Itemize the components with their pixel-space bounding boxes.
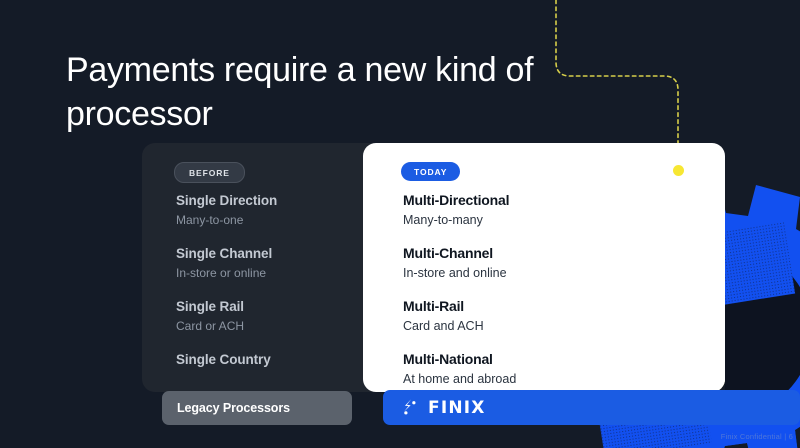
list-item: Multi-National At home and abroad — [403, 349, 653, 388]
today-card: TODAY Multi-Directional Many-to-many Mul… — [363, 143, 725, 392]
today-item-heading: Multi-National — [403, 349, 653, 369]
before-badge: BEFORE — [174, 162, 245, 183]
list-item: Single Country — [176, 350, 376, 369]
finix-wordmark: FINIX — [428, 398, 486, 418]
before-item-sub: Card or ACH — [176, 317, 376, 335]
finix-mark-icon — [400, 398, 419, 417]
today-item-heading: Multi-Channel — [403, 243, 653, 263]
before-card: BEFORE Single Direction Many-to-one Sing… — [142, 143, 390, 392]
before-item-sub: Many-to-one — [176, 211, 376, 229]
today-item-heading: Multi-Rail — [403, 296, 653, 316]
today-badge: TODAY — [401, 162, 460, 181]
legacy-processors-bar: Legacy Processors — [162, 391, 352, 425]
slide-canvas: Payments require a new kind of processor… — [0, 0, 800, 448]
before-badge-label: BEFORE — [189, 168, 230, 178]
before-feature-list: Single Direction Many-to-one Single Chan… — [176, 191, 376, 369]
today-item-heading: Multi-Directional — [403, 190, 653, 210]
finix-logo: FINIX — [383, 398, 486, 418]
today-feature-list: Multi-Directional Many-to-many Multi-Cha… — [403, 190, 653, 388]
finix-brand-bar: FINIX — [383, 390, 800, 425]
list-item: Single Rail Card or ACH — [176, 297, 376, 335]
list-item: Multi-Rail Card and ACH — [403, 296, 653, 335]
list-item: Multi-Channel In-store and online — [403, 243, 653, 282]
today-item-sub: Many-to-many — [403, 211, 653, 229]
before-item-heading: Single Direction — [176, 191, 376, 210]
yellow-dot-icon — [673, 165, 684, 176]
today-item-sub: Card and ACH — [403, 317, 653, 335]
confidential-footer: Finix Confidential | 6 — [721, 432, 793, 441]
list-item: Single Channel In-store or online — [176, 244, 376, 282]
slide-title: Payments require a new kind of processor — [66, 48, 586, 136]
legacy-processors-label: Legacy Processors — [162, 401, 290, 415]
today-item-sub: In-store and online — [403, 264, 653, 282]
list-item: Single Direction Many-to-one — [176, 191, 376, 229]
list-item: Multi-Directional Many-to-many — [403, 190, 653, 229]
today-badge-label: TODAY — [414, 167, 447, 177]
before-item-heading: Single Country — [176, 350, 376, 369]
before-item-heading: Single Channel — [176, 244, 376, 263]
before-item-heading: Single Rail — [176, 297, 376, 316]
before-item-sub: In-store or online — [176, 264, 376, 282]
today-item-sub: At home and abroad — [403, 370, 653, 388]
